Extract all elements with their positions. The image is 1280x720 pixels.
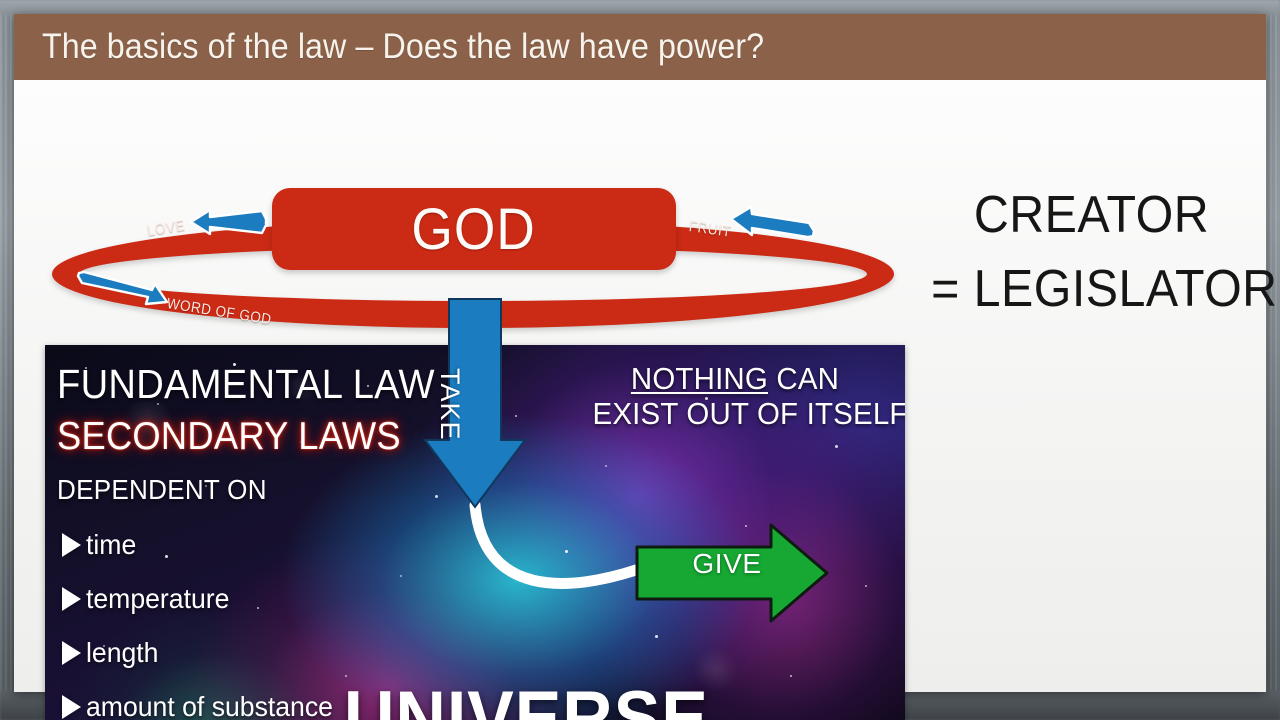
slide: The basics of the law – Does the law hav… xyxy=(14,14,1266,692)
god-node: GOD xyxy=(272,188,676,270)
top-edge-strip xyxy=(0,0,1280,15)
creator-legislator-block: CREATOR = LEGISLATOR xyxy=(919,185,1264,319)
slide-body: GOD LOVE WORD OF GOD FRUIT xyxy=(14,80,1266,692)
creator-text: CREATOR xyxy=(931,185,1252,245)
word-of-god-arrow-icon xyxy=(76,271,168,307)
universe-caption: UNIVERSE xyxy=(344,675,709,720)
slide-viewer: The basics of the law – Does the law hav… xyxy=(0,0,1280,720)
fruit-arrow-icon xyxy=(730,205,816,239)
legislator-text: = LEGISLATOR xyxy=(931,259,1252,319)
slide-title: The basics of the law – Does the law hav… xyxy=(42,14,764,80)
slide-title-bar: The basics of the law – Does the law hav… xyxy=(14,14,1266,80)
god-node-label: GOD xyxy=(412,196,536,263)
give-arrow-label: GIVE xyxy=(682,548,772,580)
love-arrow-icon xyxy=(190,205,268,239)
take-arrow-label: TAKE xyxy=(434,368,465,441)
